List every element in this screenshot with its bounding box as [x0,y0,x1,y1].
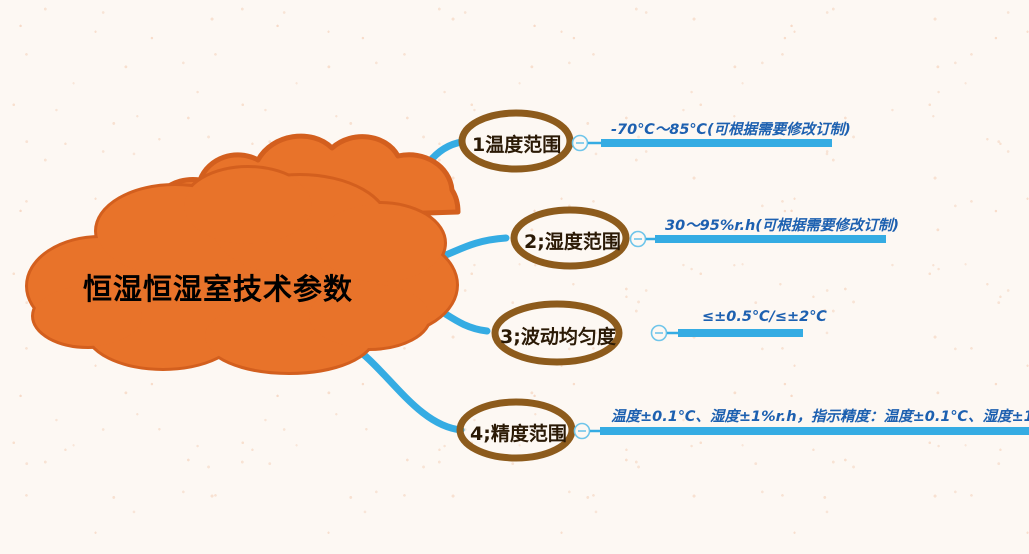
branch-2-toggle-minus-circle-icon[interactable] [631,232,646,247]
mindmap-canvas: 恒湿恒湿室技术参数 1温度范围 2;湿度范围 3;波动均匀度 4;精度范围 -7… [0,0,1029,554]
mindmap-graphics [0,0,1029,554]
branch-3-toggle-minus-circle-icon[interactable] [652,326,667,341]
branch-3-ellipse[interactable] [495,304,619,362]
branch-2-group[interactable] [514,210,886,266]
branch-1-group[interactable] [462,113,832,169]
branch-4-toggle-minus-circle-icon[interactable] [575,424,590,439]
branch-1-ellipse[interactable] [462,113,570,169]
branch-2-ellipse[interactable] [514,210,626,266]
branch-4-group[interactable] [460,402,1029,458]
branch-4-ellipse[interactable] [460,402,572,458]
branch-1-toggle-minus-circle-icon[interactable] [573,136,588,151]
central-topic-cloud[interactable] [28,136,458,372]
branch-3-group[interactable] [495,304,803,362]
